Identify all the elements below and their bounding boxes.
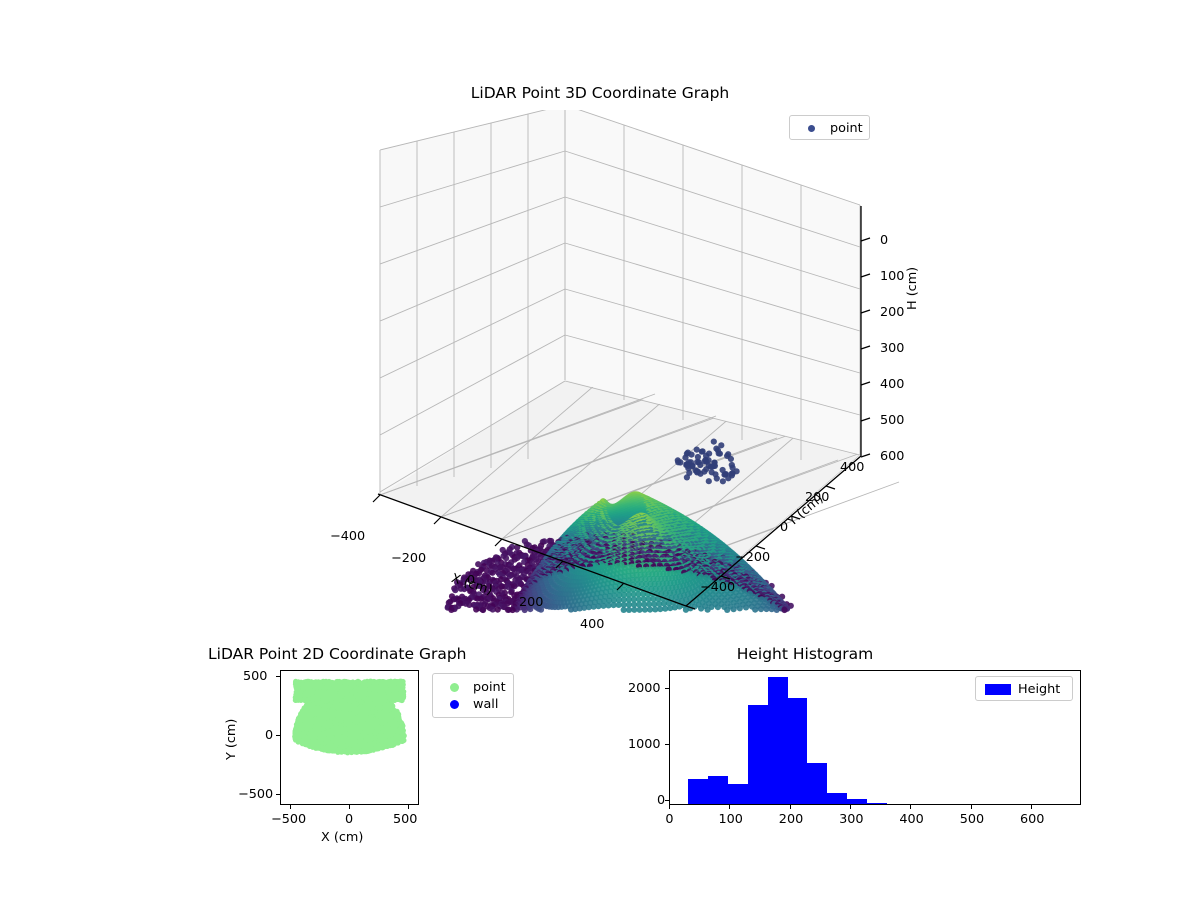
hist-xtick-mark [729, 805, 730, 809]
hist-ytick-mark-0 [665, 800, 669, 801]
legend-item-height: Height [984, 682, 1064, 696]
plot2d-xtick-0: −500 [271, 812, 306, 827]
histogram-bar [708, 776, 728, 804]
plot2d-ytick-mark-neg500 [276, 794, 280, 795]
hist-ytick-0: 0 [657, 793, 665, 808]
legend-item-point: point [441, 679, 505, 696]
histogram-bar [847, 799, 867, 805]
plot3d-ztick-1: 100 [880, 269, 904, 284]
plot3d-ztick-0: 0 [880, 233, 888, 248]
plot2d-title: LiDAR Point 2D Coordinate Graph [208, 645, 466, 663]
plot2d-ytick-0: −500 [238, 787, 273, 802]
plot3d-axes[interactable]: −400 −200 0 200 400 X (cm) −400 −200 0 2… [0, 110, 1200, 630]
legend-label: Height [1012, 682, 1060, 697]
hist-ytick-2: 2000 [628, 681, 661, 696]
plot3d-xtick-3: 200 [519, 595, 543, 610]
histogram-bar [788, 698, 808, 804]
hist-ytick-1: 1000 [628, 737, 661, 752]
hist-xtick-label: 600 [1020, 812, 1044, 827]
hist-xtick-mark [910, 805, 911, 809]
wall-marker-icon [441, 700, 467, 709]
hist-xtick-label: 300 [839, 812, 863, 827]
legend-label: wall [467, 697, 498, 712]
plot2d-ytick-mark-500 [276, 676, 280, 677]
legend-item-wall: wall [441, 696, 505, 713]
plot2d-xtick-mark-neg500 [290, 805, 291, 809]
plot3d-xtick-0: −400 [330, 529, 365, 544]
hist-xtick-label: 100 [719, 812, 743, 827]
plot3d-ztick-4: 400 [880, 377, 904, 392]
plot3d-ztick-5: 500 [880, 413, 904, 428]
matplotlib-figure: LiDAR Point 3D Coordinate Graph point [0, 0, 1200, 900]
hist-xtick-label: 0 [665, 812, 673, 827]
hist-xtick-label: 500 [960, 812, 984, 827]
plot2d-ytick-2: 500 [243, 669, 267, 684]
histogram-bar [827, 793, 847, 804]
histogram-bar [867, 803, 887, 804]
plot3d-ztick-3: 300 [880, 341, 904, 356]
hist-xtick-label: 200 [779, 812, 803, 827]
hist-xtick-mark [1031, 805, 1032, 809]
hist-xtick-mark [850, 805, 851, 809]
histogram-bar [688, 779, 708, 804]
plot2d-canvas [281, 671, 418, 804]
plot3d-ytick-2: 0 [780, 520, 788, 535]
hist-xtick-label: 400 [899, 812, 923, 827]
plot2d-legend[interactable]: point wall [432, 673, 514, 718]
hist-ytick-mark-2000 [665, 688, 669, 689]
plot3d-ztick-2: 200 [880, 305, 904, 320]
histogram-legend[interactable]: Height [975, 676, 1073, 701]
plot2d-ylabel: Y (cm) [224, 719, 239, 760]
plot3d-xtick-4: 400 [580, 617, 604, 632]
hist-xtick-mark [669, 805, 670, 809]
histogram-bar [748, 705, 768, 804]
plot2d-ytick-1: 0 [265, 728, 273, 743]
plot2d-xtick-2: 500 [393, 812, 417, 827]
plot3d-ytick-1: −200 [735, 550, 770, 565]
hist-ytick-mark-1000 [665, 744, 669, 745]
plot3d-title: LiDAR Point 3D Coordinate Graph [0, 84, 1200, 102]
height-patch-icon [984, 684, 1012, 695]
plot3d-ytick-0: −400 [700, 580, 735, 595]
plot3d-ztick-6: 600 [880, 449, 904, 464]
plot3d-zlabel: H (cm) [905, 267, 920, 310]
legend-label: point [467, 680, 506, 695]
histogram-bar [768, 677, 788, 804]
hist-xtick-mark [790, 805, 791, 809]
point-marker-icon [441, 683, 467, 692]
plot2d-xtick-1: 0 [345, 812, 353, 827]
plot2d-xtick-mark-500 [408, 805, 409, 809]
plot3d-ytick-4: 400 [840, 460, 864, 475]
histogram-bar [728, 784, 748, 804]
plot2d-ytick-mark-0 [276, 735, 280, 736]
histogram-bar [807, 763, 827, 804]
hist-xtick-mark [971, 805, 972, 809]
plot2d-xtick-mark-0 [349, 805, 350, 809]
plot2d-axes[interactable] [280, 670, 419, 805]
plot3d-canvas [0, 110, 1200, 630]
plot2d-xlabel: X (cm) [321, 830, 363, 845]
histogram-title: Height Histogram [737, 645, 874, 663]
plot3d-xtick-1: −200 [391, 551, 426, 566]
